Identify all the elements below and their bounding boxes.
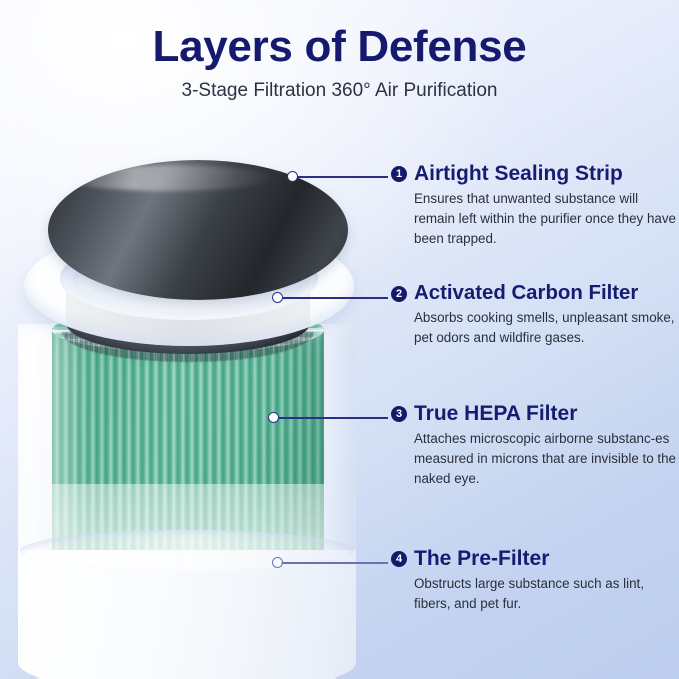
- leader-dot-4: [272, 557, 283, 568]
- callout-4-body: Obstructs large substance such as lint, …: [391, 574, 679, 614]
- number-badge-1-icon: 1: [391, 166, 407, 182]
- callout-3-title: True HEPA Filter: [414, 402, 577, 426]
- callout-2-header: 2 Activated Carbon Filter: [391, 282, 679, 305]
- product-illustration: [0, 132, 390, 642]
- leader-line-2: [281, 297, 388, 299]
- leader-dot-3: [268, 412, 279, 423]
- layers-of-defense-poster: Layers of Defense 3-Stage Filtration 360…: [0, 0, 679, 679]
- callout-4-header: 4 The Pre-Filter: [391, 547, 679, 571]
- callout-3: 3 True HEPA Filter Attaches microscopic …: [391, 402, 679, 489]
- number-badge-4-icon: 4: [391, 551, 407, 567]
- callout-2-title: Activated Carbon Filter: [414, 282, 638, 305]
- callout-2: 2 Activated Carbon Filter Absorbs cookin…: [391, 282, 679, 348]
- sealing-strip-highlight: [62, 165, 272, 191]
- callout-1: 1 Airtight Sealing Strip Ensures that un…: [391, 162, 679, 249]
- leader-dot-1: [287, 171, 298, 182]
- callout-2-body: Absorbs cooking smells, unpleasant smoke…: [391, 308, 679, 348]
- pre-filter-base-skirt: [18, 550, 356, 679]
- callout-4-title: The Pre-Filter: [414, 547, 549, 571]
- callout-3-header: 3 True HEPA Filter: [391, 402, 679, 426]
- callout-3-body: Attaches microscopic airborne substanc-e…: [391, 429, 679, 488]
- callout-1-header: 1 Airtight Sealing Strip: [391, 162, 679, 186]
- page-subtitle: 3-Stage Filtration 360° Air Purification: [0, 71, 679, 103]
- leader-line-4: [281, 562, 388, 564]
- leader-dot-2: [272, 292, 283, 303]
- callout-1-body: Ensures that unwanted substance will rem…: [391, 189, 679, 248]
- number-badge-2-icon: 2: [391, 286, 407, 302]
- page-title: Layers of Defense: [0, 0, 679, 71]
- poster-header: Layers of Defense 3-Stage Filtration 360…: [0, 0, 679, 103]
- number-badge-3-icon: 3: [391, 406, 407, 422]
- leader-line-1: [296, 176, 388, 178]
- callout-4: 4 The Pre-Filter Obstructs large substan…: [391, 547, 679, 614]
- leader-line-3: [277, 417, 388, 419]
- callout-1-title: Airtight Sealing Strip: [414, 162, 623, 186]
